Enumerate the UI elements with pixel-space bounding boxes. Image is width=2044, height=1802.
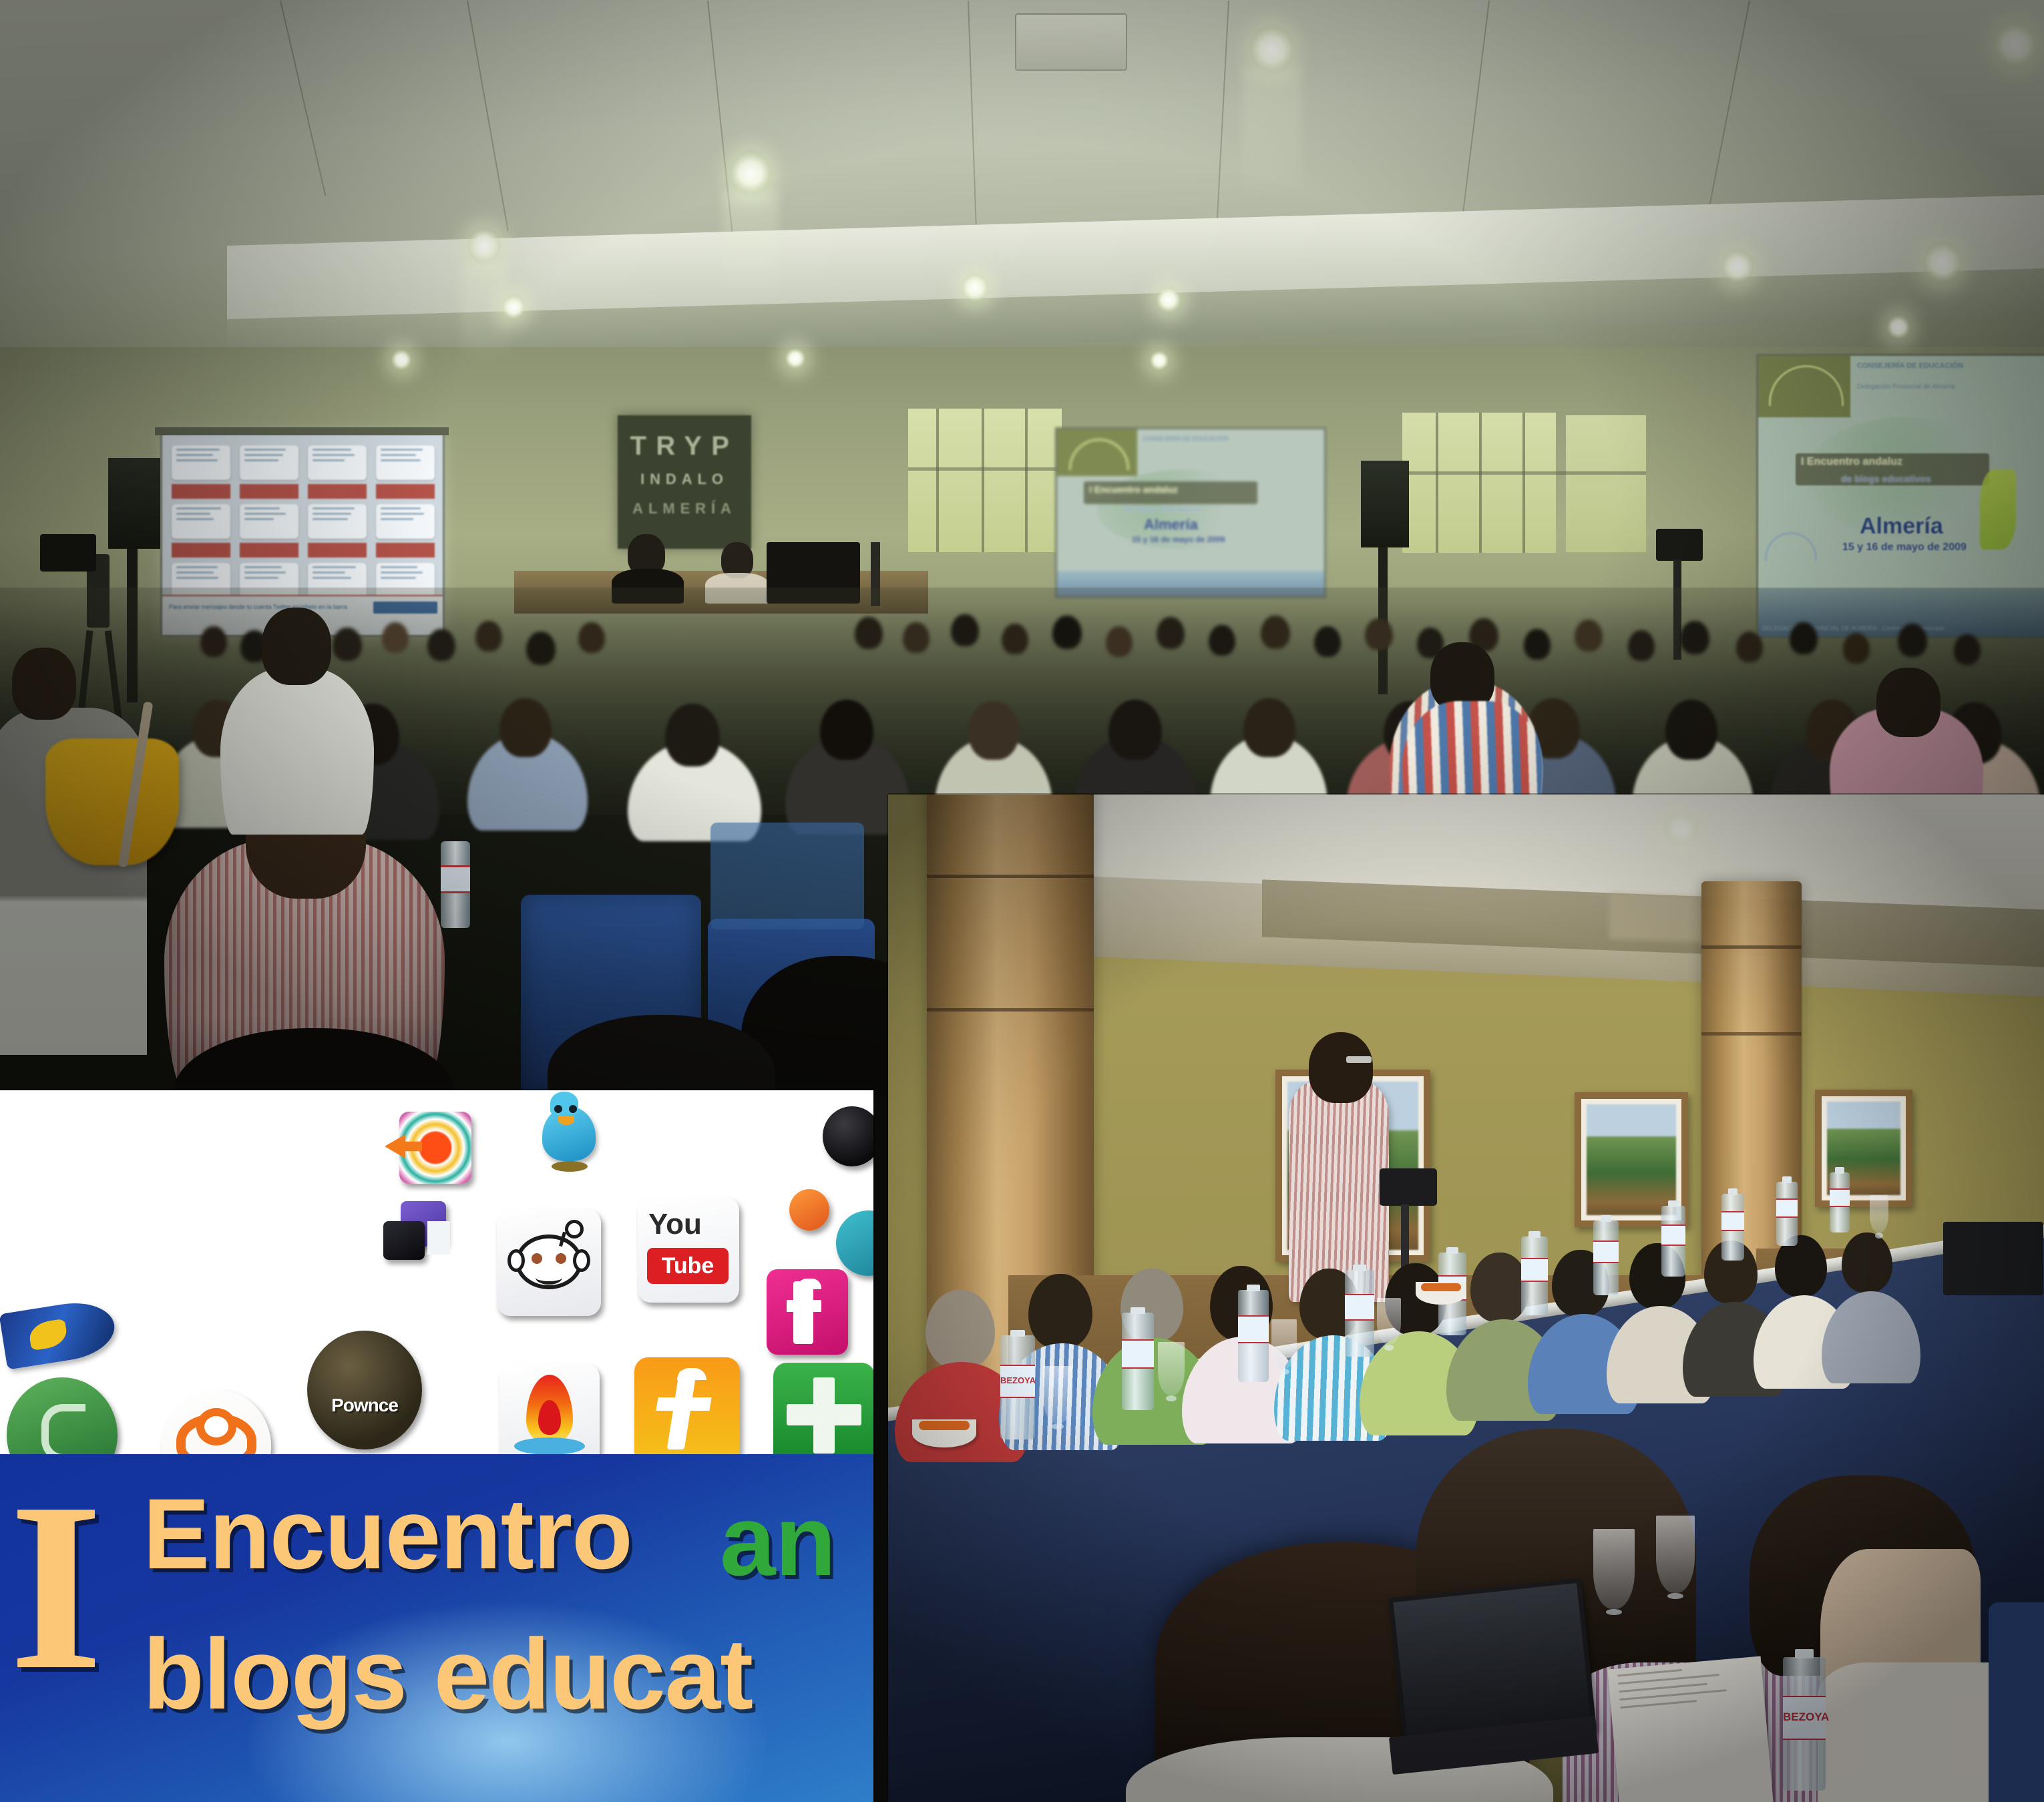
ceiling-light [467,227,501,264]
snack-bowl [1416,1282,1466,1305]
logo-blue-band: I Encuentro an blogs educat [0,1454,873,1802]
drinking-glass [1870,1195,1888,1232]
poster-org-line: CONSEJERÍA DE EDUCACIÓN [1143,435,1319,443]
backlit-wall-panel [908,409,1062,552]
dark-square-icon[interactable] [383,1221,425,1260]
twitter-bird-icon[interactable] [528,1092,608,1176]
plus-icon[interactable] [773,1363,873,1468]
drinking-glass [1271,1319,1297,1369]
light-beam [1242,67,1302,200]
pownce-icon[interactable]: Pownce [307,1331,422,1449]
window-mullion [936,409,939,552]
attendee-head [1876,668,1940,737]
window-mullion [982,409,984,552]
hotel-sign-line3: ALMERÍA [618,500,751,517]
logo-line1-main: Encuentro [143,1484,632,1584]
water-bottle [1593,1220,1619,1295]
poster-city-right: Almería [1860,513,1943,539]
logo-line2: blogs educat [143,1624,753,1724]
window-mullion [908,467,1062,471]
pownce-label: Pownce [307,1395,422,1416]
drinking-glass [1377,1298,1401,1345]
logo-line1-accent: an [720,1490,835,1590]
ceiling-light [731,150,771,196]
ceiling-light [391,349,411,371]
ceiling-light [1157,286,1181,314]
ceiling-light [1721,248,1754,284]
water-bottle [1830,1172,1850,1232]
reddit-icon[interactable] [497,1209,601,1316]
poster-title-line1-right: I Encuentro andaluz [1801,456,1902,468]
eyeglasses-icon [1346,1056,1372,1063]
snack-bowl [912,1419,976,1447]
pa-speaker-right [1361,461,1409,547]
netvibes-leaf-icon[interactable] [0,1291,122,1375]
video-camera-right [1656,529,1703,561]
hotel-sign-tryp-indalo: TRYP INDALO ALMERÍA [618,415,751,549]
attendee-head [12,648,76,720]
poster-title-line2-right: de blogs educativos [1841,473,1931,484]
social-icon-cloud: You Tube [0,1090,873,1478]
dark-circle-icon[interactable] [823,1106,873,1166]
poster-city: Almería [1144,516,1198,533]
water-bottle-bezoya: BEZOYA [1000,1335,1035,1439]
water-bottle [1238,1290,1269,1382]
poster-org-line-right: CONSEJERÍA DE EDUCACIÓN [1857,361,2040,371]
friendfeed-icon[interactable] [634,1357,740,1466]
bottle-brand-label-foreground: BEZOYA [1783,1711,1826,1724]
poster-dates-right: 15 y 16 de mayo de 2009 [1842,541,1967,553]
printed-handout [1607,1656,1778,1802]
ceiling-light [1923,240,1962,284]
light-beam [723,191,779,304]
orange-circle-icon[interactable] [789,1189,829,1230]
green-ribbon-graphic [1980,469,2016,549]
water-bottle [441,841,470,928]
camera-operator-head [1309,1032,1373,1103]
facebook-icon[interactable] [767,1269,848,1355]
conference-chair-back [710,823,864,929]
ceiling-vent [1015,13,1127,71]
backlit-wall-panel [1566,415,1646,552]
pa-speaker-left [108,458,160,549]
water-bottle [1776,1182,1798,1246]
water-bottle [1661,1206,1685,1277]
ceiling-light [1993,20,2037,69]
drinking-glass-foreground [1593,1529,1635,1609]
br-ceiling-light [1663,815,1700,843]
video-camera-left [40,534,96,572]
poster-dates: 15 y 16 de mayo de 2009 [1132,535,1225,544]
poster-title-line2: de blogs educativos [1124,504,1201,513]
light-beam [461,262,509,362]
page-icon [427,1221,450,1255]
panel-round-table-photo: BEZOYA [888,795,2044,1802]
poster-subtitle-right: Delegación Provincial de Almería [1857,383,2040,391]
laptop-far-end [1943,1222,2043,1295]
window-mullion [1025,409,1028,552]
water-bottle [1521,1236,1548,1315]
window-mullion [1479,413,1482,553]
drinking-glass-foreground [1656,1516,1695,1593]
window-mullion [1402,471,1646,475]
attendee-head [262,608,331,685]
hotel-sign-line1: TRYP [618,431,751,461]
window-mullion [1436,413,1438,553]
ceiling-light [1887,314,1910,341]
water-bottle [1721,1194,1744,1261]
ceiling-light [1150,350,1169,371]
logo-numeral: I [9,1473,103,1700]
teal-circle-icon[interactable] [836,1210,873,1276]
photo-collage: Para enviar mensajes desde tu cuenta Twi… [0,0,2044,1802]
water-bottle [1345,1270,1374,1357]
ceiling-light [502,294,525,320]
youtube-icon[interactable]: You Tube [638,1197,739,1303]
ceiling-light [785,347,805,370]
yellow-handbag [45,738,179,865]
screen-top-rail [155,427,449,435]
bottle-brand-label: BEZOYA [1000,1375,1035,1385]
poster-title-line1: I Encuentro andaluz [1089,484,1178,495]
water-bottle-bezoya-foreground: BEZOYA [1783,1657,1826,1791]
drinking-glass [1158,1342,1185,1395]
panel-event-logo: You Tube [0,1090,873,1802]
foreground-attendee-blue-top [1989,1602,2044,1802]
hotel-sign-line2: INDALO [618,471,751,488]
attendee-white-shirt [220,668,374,835]
water-bottle [1122,1313,1154,1410]
ceiling-light [962,272,988,303]
window-mullion [1522,413,1525,553]
projection-screen-poster-middle: CONSEJERÍA DE EDUCACIÓN I Encuentro anda… [1055,427,1326,598]
drinking-glass [1043,1366,1072,1423]
